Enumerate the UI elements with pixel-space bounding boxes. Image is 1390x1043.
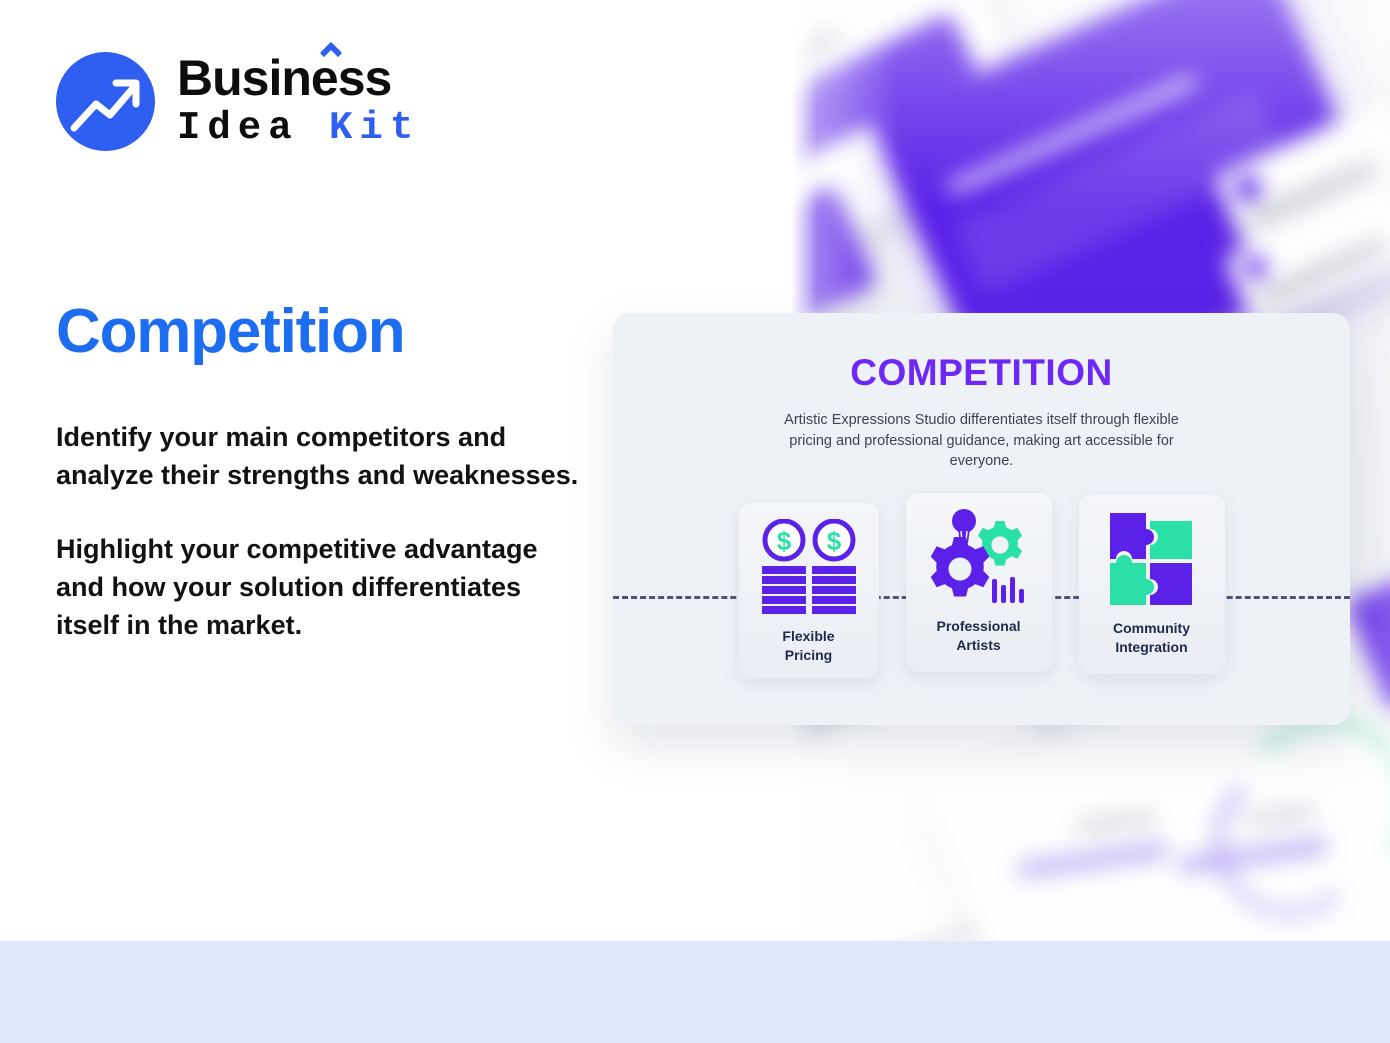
purple-gear-icon	[930, 537, 989, 597]
competition-card: COMPETITION Artistic Expressions Studio …	[613, 313, 1350, 725]
feature-label-line1: Community	[1113, 619, 1190, 638]
puzzle-piece-bottom-left	[1110, 555, 1154, 605]
brand-name-text: Business	[177, 50, 391, 106]
feature-label-line2: Integration	[1113, 638, 1190, 657]
puzzle-piece-top-left	[1110, 513, 1154, 559]
brand-wordmark: Business Idea Kit	[177, 53, 420, 151]
brand-idea-text: Idea	[177, 106, 299, 150]
feature-label-line2: Artists	[936, 636, 1020, 655]
feature-label-line1: Professional	[936, 617, 1020, 636]
growth-arrow-icon	[56, 52, 155, 151]
puzzle-piece-top-right	[1150, 521, 1192, 559]
feature-card-label: Professional Artists	[936, 617, 1020, 654]
growth-arrow-glyph	[56, 52, 155, 151]
feature-label-line2: Pricing	[782, 646, 834, 665]
feature-card-community-integration[interactable]: Community Integration	[1079, 495, 1225, 674]
page-title: Competition	[56, 296, 404, 367]
brand-name-primary: Business	[177, 53, 420, 103]
bar-chart-icon	[992, 577, 1024, 603]
puzzle-pieces-icon	[1104, 509, 1200, 609]
page-body-copy: Identify your main competitors and analy…	[56, 418, 586, 644]
body-paragraph: Identify your main competitors and analy…	[56, 418, 586, 494]
feature-card-label: Flexible Pricing	[782, 627, 834, 664]
feature-card-flexible-pricing[interactable]: $ $	[739, 503, 879, 678]
brand-name-secondary: Idea Kit	[177, 106, 420, 151]
svg-text:$: $	[826, 526, 841, 556]
feature-card-professional-artists[interactable]: Professional Artists	[906, 493, 1052, 672]
feature-card-list: $ $	[613, 313, 1350, 725]
puzzle-piece-bottom-right	[1150, 563, 1192, 605]
bottom-accent-strip	[0, 941, 1390, 1043]
feature-card-label: Community Integration	[1113, 619, 1190, 656]
gears-lightbulb-chart-icon	[924, 507, 1034, 607]
feature-label-line1: Flexible	[782, 627, 834, 646]
svg-text:$: $	[776, 526, 791, 556]
brand-kit-text: Kit	[329, 106, 420, 150]
money-coins-icon: $ $	[757, 517, 861, 617]
brand-logo: Business Idea Kit	[56, 52, 420, 151]
body-paragraph: Highlight your competitive advantage and…	[56, 530, 586, 644]
